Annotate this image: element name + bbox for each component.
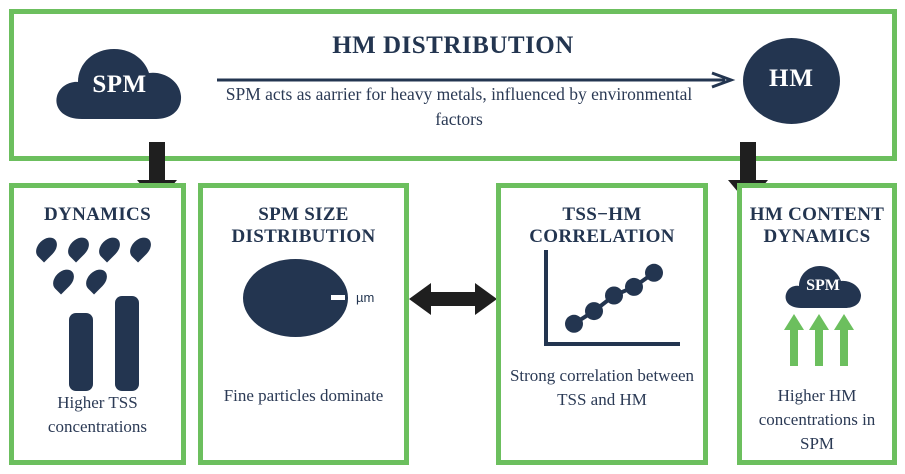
double-headed-arrow-icon bbox=[409, 281, 497, 317]
panel-dynamics-title: DYNAMICS bbox=[18, 204, 177, 226]
chart-data-point bbox=[645, 264, 663, 282]
panel-corr-title: TSS−HM CORRELATION bbox=[505, 204, 699, 248]
chart-data-point bbox=[605, 287, 623, 305]
spm-cloud-icon: SPM bbox=[52, 41, 187, 123]
hm-node-label: HM bbox=[743, 65, 840, 93]
panel-hm-caption: Higher HM concentrations in SPM bbox=[748, 384, 886, 455]
panel-hm-title: HM CONTENT DYNAMICS bbox=[746, 204, 888, 248]
spm-cloud-label: SPM bbox=[52, 71, 187, 99]
panel-size-title: SPM SIZE DISTRIBUTION bbox=[207, 204, 400, 248]
chart-data-point bbox=[585, 302, 603, 320]
micrometer-unit-label: µm bbox=[356, 290, 374, 305]
tss-hm-line-chart bbox=[528, 248, 688, 358]
top-panel-caption: SPM acts as aarrier for heavy metals, in… bbox=[224, 82, 694, 133]
hm-node-ellipse: HM bbox=[743, 38, 840, 124]
chart-data-point bbox=[625, 278, 643, 296]
particle-scale-tick-icon bbox=[331, 295, 345, 300]
infographic-canvas: HM DISTRIBUTION SPM SPM acts as aarrier … bbox=[0, 0, 905, 474]
panel-hm-distribution: HM DISTRIBUTION SPM SPM acts as aarrier … bbox=[9, 9, 897, 161]
spm-cloud-small-label: SPM bbox=[783, 277, 863, 295]
panel-dynamics: DYNAMICS Higher TSS concentrations bbox=[9, 183, 186, 465]
panel-dynamics-caption: Higher TSS concentrations bbox=[20, 391, 175, 439]
green-up-arrows-icon bbox=[778, 310, 868, 366]
chart-data-point bbox=[565, 315, 583, 333]
panel-corr-caption: Strong correlation between TSS and HM bbox=[507, 364, 697, 412]
spm-cloud-small-icon: SPM bbox=[783, 262, 863, 310]
panel-size-caption: Fine particles dominate bbox=[209, 384, 398, 408]
